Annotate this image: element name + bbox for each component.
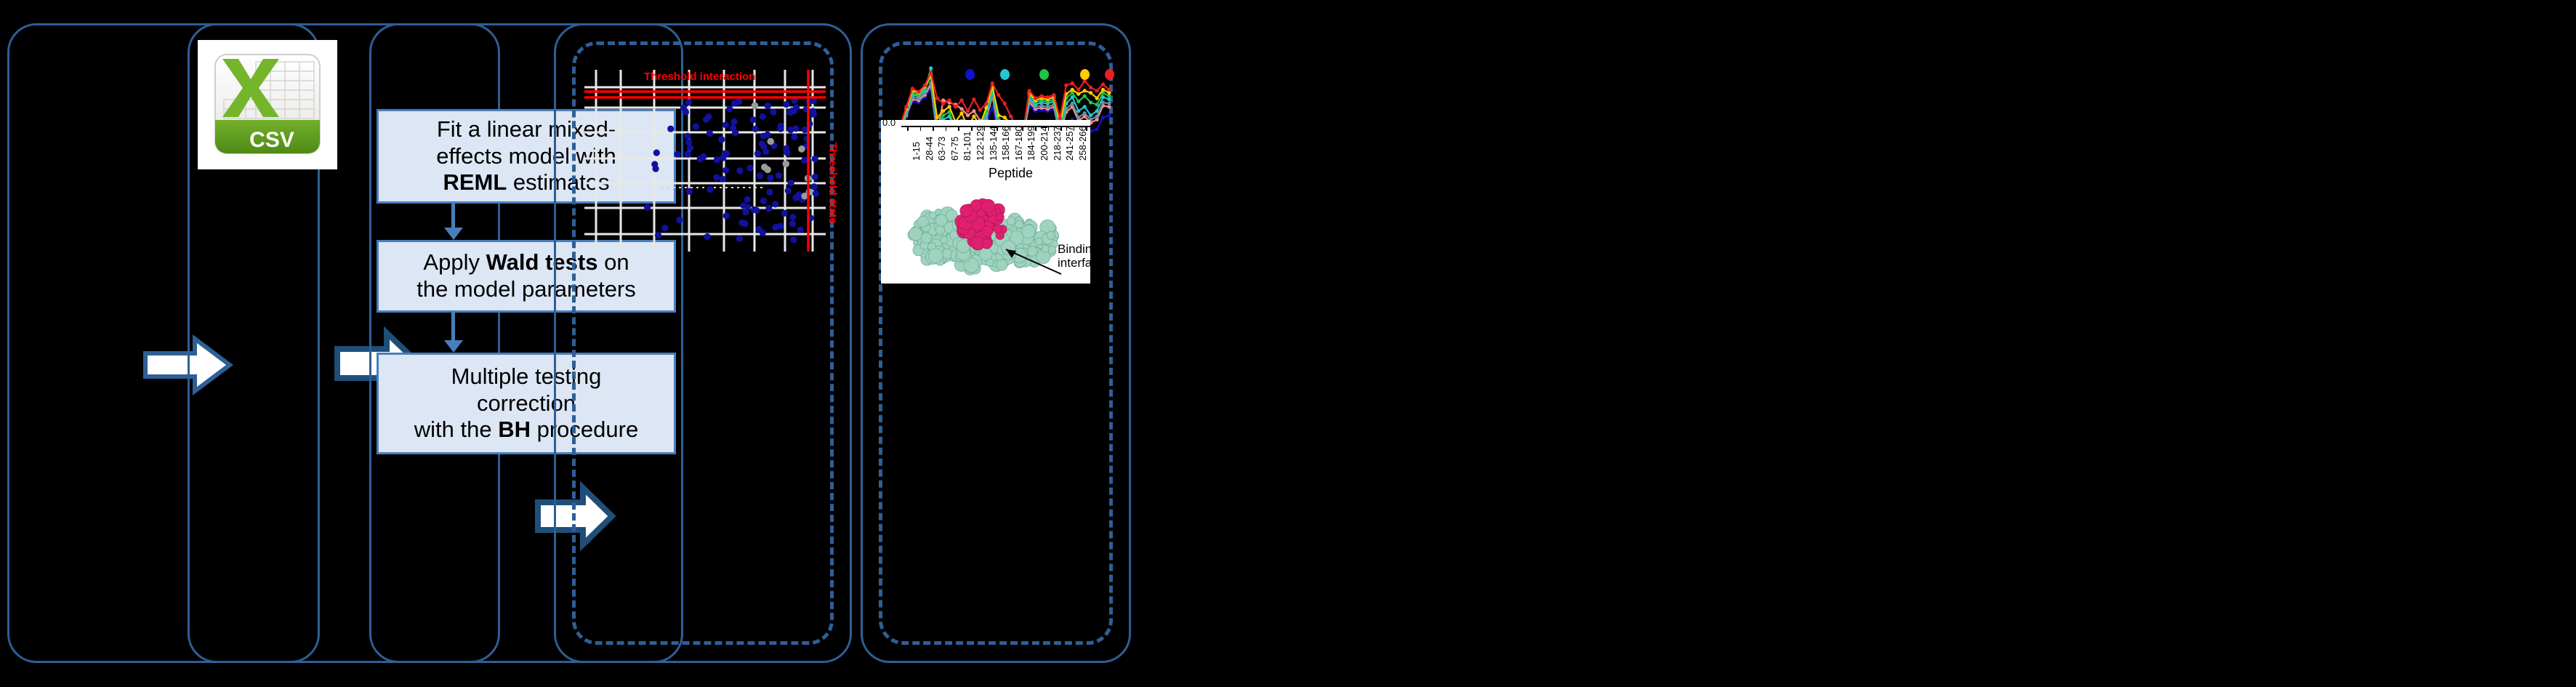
binding-interface-annotation: Binding interface: [1058, 242, 1090, 270]
x-tick-mark: [933, 126, 934, 131]
legend-dot-series-green: [1039, 69, 1049, 80]
legend-dot-series-gold: [1080, 69, 1090, 80]
x-tick-label: 81-101: [962, 132, 973, 161]
x-tick-mark: [907, 126, 909, 131]
csv-icon: CSV: [209, 50, 326, 159]
x-tick-label: 63-73: [936, 137, 947, 161]
x-tick-mark: [1086, 126, 1087, 131]
legend-dot-series-red: [1105, 69, 1114, 80]
legend-dot-series-blue: [965, 69, 975, 80]
connector-2: [451, 313, 455, 342]
x-tick-mark: [920, 126, 922, 131]
x-tick-label: 122-129: [975, 126, 986, 161]
legend-dot-series-cyan: [1000, 69, 1010, 80]
x-tick-mark: [1060, 126, 1062, 131]
x-tick-mark: [1035, 126, 1037, 131]
csv-file-card: CSV: [198, 40, 337, 169]
x-tick-mark: [1074, 126, 1075, 131]
x-tick-label: 28-44: [924, 137, 935, 161]
x-tick-label: 184-199: [1026, 126, 1037, 161]
binding-interface-line1: Binding: [1058, 242, 1090, 256]
x-tick-label: 158-166: [1000, 126, 1011, 161]
x-tick-label: 1-15: [911, 142, 922, 161]
x-tick-mark: [1022, 126, 1023, 131]
threshold-interaction-label: Threshold interaction: [644, 71, 755, 83]
x-tick-label: 277-284: [1090, 126, 1090, 161]
connector-1: [451, 204, 455, 229]
x-tick-mark: [1048, 126, 1050, 131]
scatter-svg: [581, 65, 829, 254]
figure-canvas: CSV Fit a linear mixed-effects model wit…: [0, 0, 2576, 687]
threshold-scatter-plot: [581, 65, 829, 254]
x-tick-label: 258-266: [1077, 126, 1088, 161]
binding-interface-line2: interface: [1058, 256, 1090, 270]
x-axis-title: Peptide: [989, 166, 1033, 181]
x-tick-label: 241-257: [1064, 126, 1075, 161]
chart-legend: [885, 69, 1118, 85]
x-tick-label: 218-237: [1052, 126, 1063, 161]
x-tick-mark: [946, 126, 947, 131]
threshold-state-label: Threshold state: [826, 142, 839, 224]
epitope-figure-card: 0.0 1-1528-4463-7367-7581-101122-129135-…: [881, 120, 1090, 284]
x-tick-label: 167-180: [1013, 126, 1024, 161]
connector-2-arrowhead: [444, 340, 463, 353]
x-tick-mark: [971, 126, 973, 131]
connector-1-arrowhead: [444, 228, 463, 240]
x-tick-mark: [984, 126, 986, 131]
svg-text:CSV: CSV: [249, 128, 294, 152]
x-tick-label: 200-214: [1039, 126, 1050, 161]
x-tick-mark: [997, 126, 998, 131]
x-tick-label: 67-75: [949, 137, 960, 161]
x-tick-mark: [1010, 126, 1011, 131]
x-tick-mark: [958, 126, 959, 131]
x-tick-label: 135-144: [988, 126, 999, 161]
